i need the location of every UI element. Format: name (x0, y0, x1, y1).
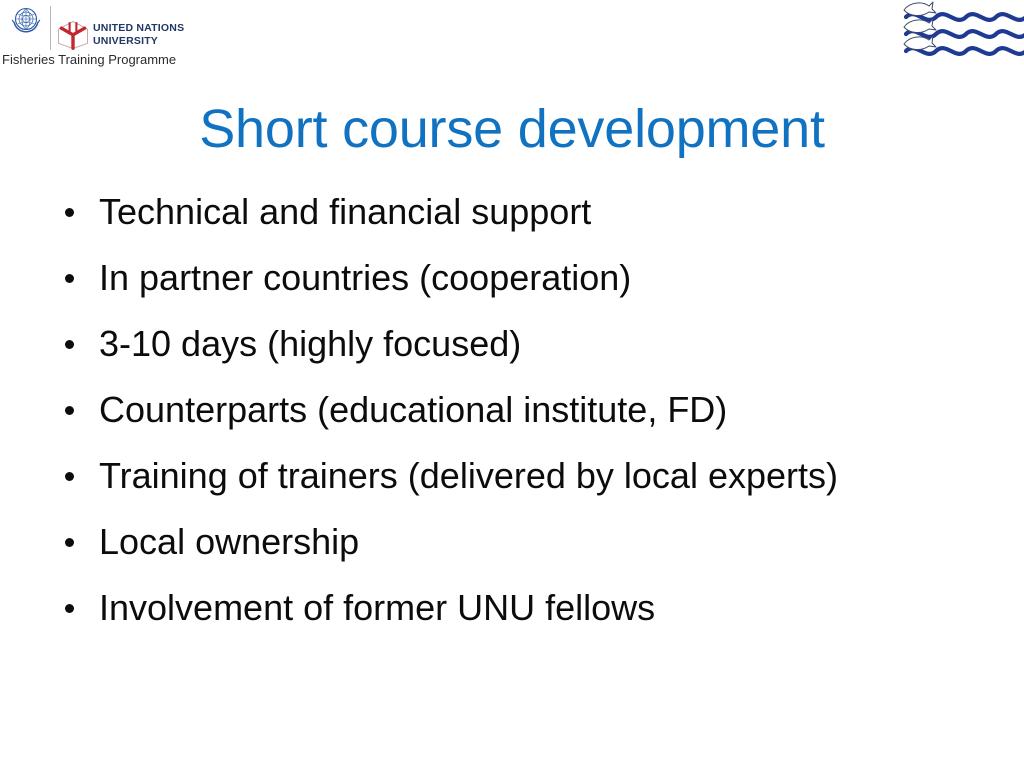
bullet-dot-icon (65, 538, 74, 547)
bullet-list: Technical and financial support In partn… (60, 186, 994, 648)
list-item-label: Technical and financial support (99, 191, 591, 232)
list-item-label: Local ownership (99, 521, 359, 562)
unu-organization-name: UNITED NATIONS UNIVERSITY (93, 22, 184, 48)
unu-line-2: UNIVERSITY (93, 35, 158, 47)
un-emblem-icon (9, 3, 43, 37)
dolphins-waves-icon (902, 0, 1024, 60)
list-item-label: In partner countries (cooperation) (99, 257, 631, 298)
bullet-dot-icon (65, 472, 74, 481)
list-item: In partner countries (cooperation) (60, 252, 994, 318)
list-item: Local ownership (60, 516, 994, 582)
list-item-label: Training of trainers (delivered by local… (99, 455, 838, 496)
list-item-label: Counterparts (educational institute, FD) (99, 389, 727, 430)
bullet-dot-icon (65, 208, 74, 217)
bullet-dot-icon (65, 340, 74, 349)
list-item: Involvement of former UNU fellows (60, 582, 994, 648)
unu-line-1: UNITED NATIONS (93, 22, 184, 34)
list-item-label: 3-10 days (highly focused) (99, 323, 521, 364)
list-item-label: Involvement of former UNU fellows (99, 587, 655, 628)
list-item: 3-10 days (highly focused) (60, 318, 994, 384)
list-item: Counterparts (educational institute, FD) (60, 384, 994, 450)
bullet-dot-icon (65, 604, 74, 613)
list-item: Technical and financial support (60, 186, 994, 252)
unu-hexagon-icon (56, 20, 90, 50)
logo-divider (50, 6, 51, 50)
page-title: Short course development (0, 98, 1024, 160)
bullet-dot-icon (65, 406, 74, 415)
programme-name: Fisheries Training Programme (2, 52, 176, 67)
bullet-dot-icon (65, 274, 74, 283)
list-item: Training of trainers (delivered by local… (60, 450, 994, 516)
unu-ftp-logo: UNITED NATIONS UNIVERSITY Fisheries Trai… (0, 0, 210, 72)
slide: UNITED NATIONS UNIVERSITY Fisheries Trai… (0, 0, 1024, 768)
